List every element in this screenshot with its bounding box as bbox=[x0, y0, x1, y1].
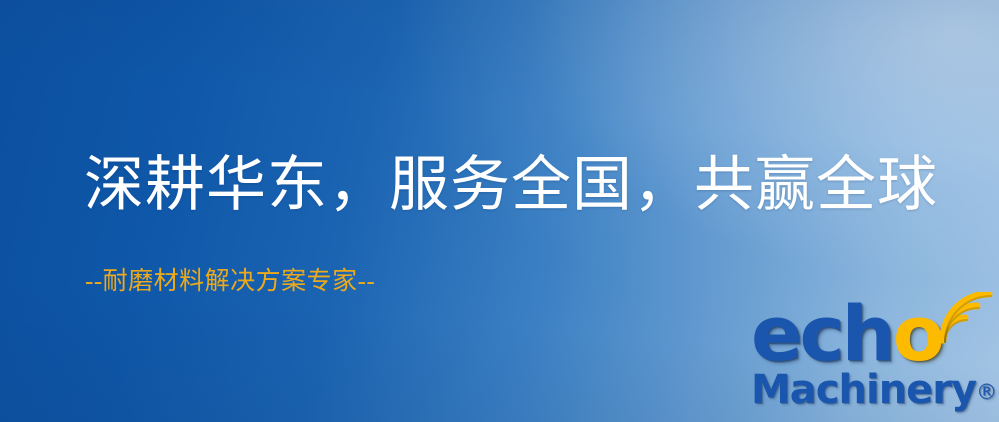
banner-subtitle: --耐磨材料解决方案专家-- bbox=[85, 267, 375, 297]
signal-wave-icon bbox=[933, 292, 995, 354]
registered-trademark-icon: ® bbox=[976, 380, 997, 404]
logo-text-ech: ech bbox=[751, 289, 893, 378]
banner-headline: 深耕华东，服务全国，共赢全球 bbox=[84, 152, 938, 219]
logo-wordmark: echo bbox=[751, 295, 942, 373]
echo-machinery-logo[interactable]: echo Machinery® bbox=[745, 295, 995, 417]
promotional-banner: 深耕华东，服务全国，共赢全球 --耐磨材料解决方案专家-- echo Machi… bbox=[0, 0, 999, 422]
logo-text-machinery: Machinery bbox=[751, 367, 976, 413]
logo-subtext-wrapper: Machinery® bbox=[751, 367, 997, 413]
